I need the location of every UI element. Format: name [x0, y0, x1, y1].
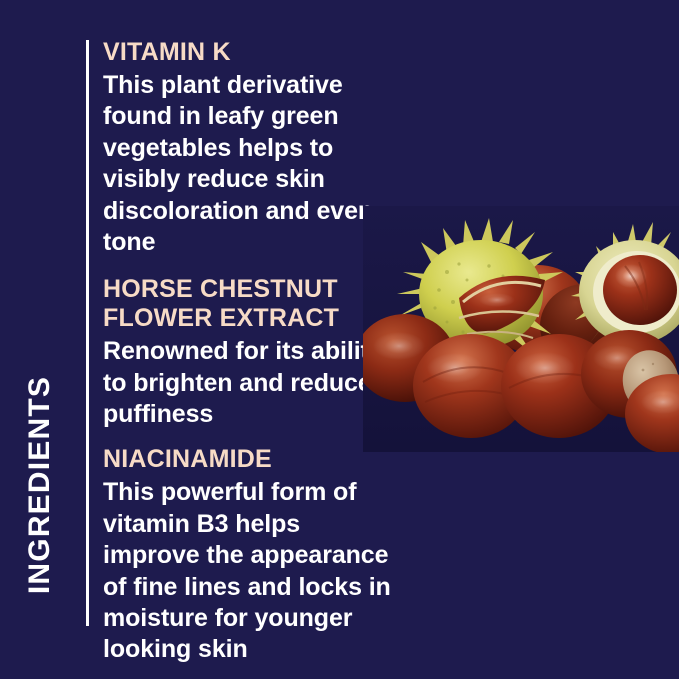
ingredient-item-vitamin-k: VITAMIN K This plant derivative found in…: [103, 38, 403, 258]
ingredient-body-vitamin-k: This plant derivative found in leafy gre…: [103, 70, 403, 258]
ingredient-heading-vitamin-k: VITAMIN K: [103, 38, 403, 67]
vertical-divider: [86, 40, 89, 626]
ingredient-body-niacinamide: This powerful form of vitamin B3 helps i…: [103, 477, 403, 665]
vertical-section-label: INGREDIENTS: [0, 355, 80, 615]
horse-chestnut-photo: [363, 206, 679, 452]
ingredient-item-niacinamide: NIACINAMIDE This powerful form of vitami…: [103, 445, 403, 665]
ingredient-heading-horse-chestnut-flower-extract: HORSE CHESTNUT FLOWER EXTRACT: [103, 275, 403, 333]
ingredients-panel: INGREDIENTS VITAMIN K This plant derivat…: [0, 0, 679, 679]
vertical-section-label-text: INGREDIENTS: [23, 376, 57, 594]
ingredient-body-horse-chestnut-flower-extract: Renowned for its ability to brighten and…: [103, 336, 403, 430]
ingredients-list: VITAMIN K This plant derivative found in…: [103, 38, 403, 666]
ingredient-item-horse-chestnut-flower-extract: HORSE CHESTNUT FLOWER EXTRACT Renowned f…: [103, 275, 403, 430]
ingredient-heading-niacinamide: NIACINAMIDE: [103, 445, 403, 474]
